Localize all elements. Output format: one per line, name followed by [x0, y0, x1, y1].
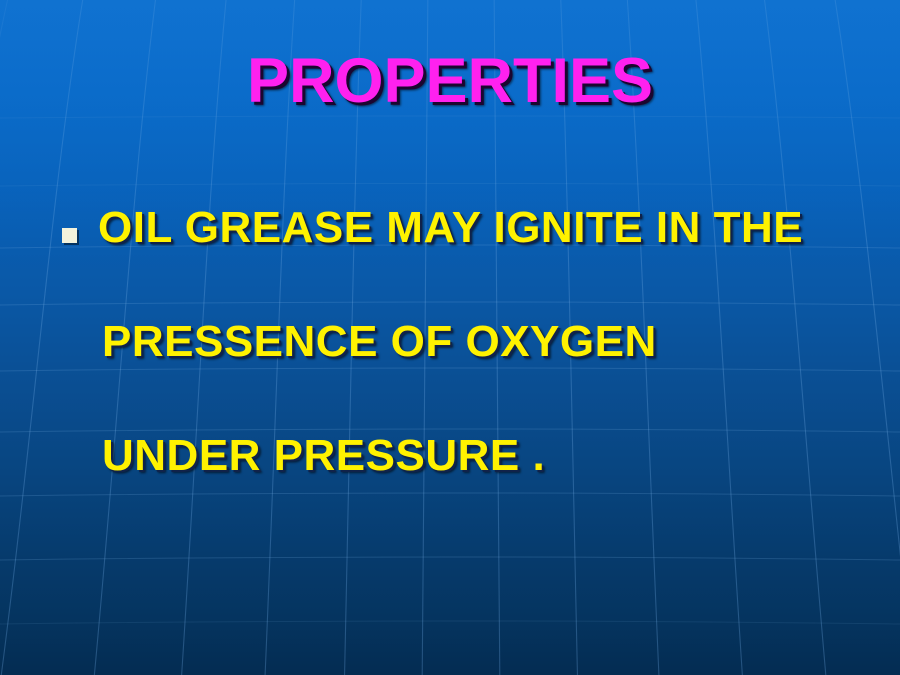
bullet-item-continuation: UNDER PRESSURE . [58, 434, 878, 548]
slide-title: PROPERTIES [0, 48, 900, 114]
bullet-text: UNDER PRESSURE . [58, 434, 545, 478]
bullet-text: PRESSENCE OF OXYGEN [58, 320, 657, 364]
square-bullet-icon [62, 228, 77, 243]
bullet-item-continuation: PRESSENCE OF OXYGEN [58, 320, 878, 434]
slide-body: OIL GREASE MAY IGNITE IN THE PRESSENCE O… [58, 206, 878, 548]
bullet-item: OIL GREASE MAY IGNITE IN THE [58, 206, 878, 320]
bullet-text: OIL GREASE MAY IGNITE IN THE [58, 206, 803, 250]
slide-canvas: PROPERTIES OIL GREASE MAY IGNITE IN THE … [0, 0, 900, 675]
